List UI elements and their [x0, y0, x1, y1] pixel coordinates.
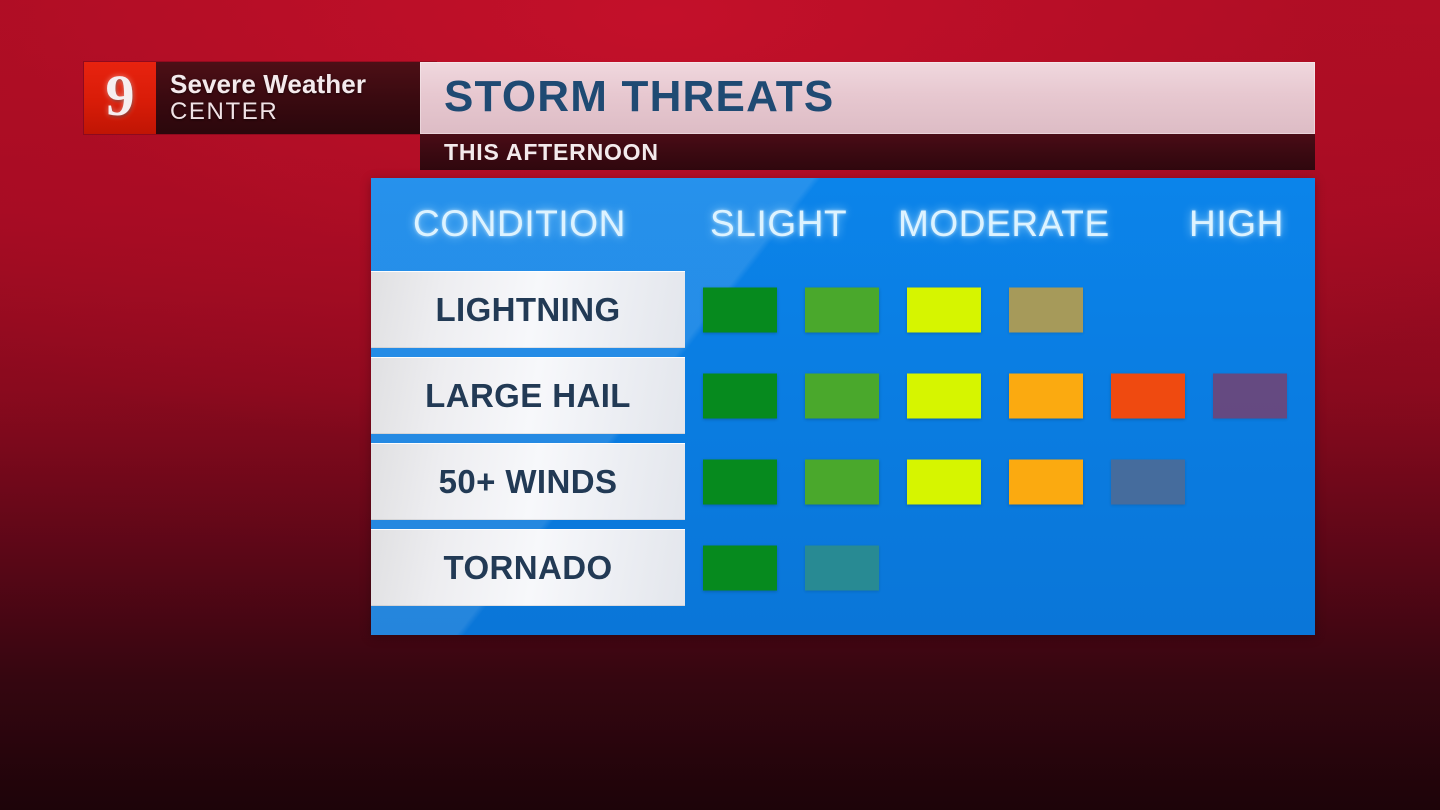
brand-text-block: Severe Weather CENTER — [156, 62, 436, 134]
table-row: 50+ WINDS — [371, 443, 1315, 520]
title-bar: STORM THREATS — [420, 62, 1315, 134]
row-swatches — [685, 271, 1315, 348]
table-row: LIGHTNING — [371, 271, 1315, 348]
row-label-text: 50+ WINDS — [439, 465, 618, 498]
row-swatches — [685, 357, 1315, 434]
threat-swatch — [703, 373, 777, 418]
threat-swatch — [805, 545, 879, 590]
threat-swatch — [1111, 373, 1185, 418]
row-label-tornado: TORNADO — [371, 529, 685, 606]
threat-swatch — [1009, 373, 1083, 418]
row-label-text: TORNADO — [443, 551, 612, 584]
brand-line-center: CENTER — [170, 99, 418, 126]
column-header-moderate: MODERATE — [898, 178, 1110, 269]
row-swatches — [685, 529, 1315, 606]
subtitle-bar: THIS AFTERNOON — [420, 134, 1315, 170]
station-brand-block: 9 Severe Weather CENTER — [84, 62, 436, 134]
threat-swatch — [1009, 459, 1083, 504]
row-label-text: LARGE HAIL — [425, 379, 631, 412]
threat-swatch — [907, 287, 981, 332]
column-header-slight: SLIGHT — [710, 178, 847, 269]
threat-swatch — [703, 545, 777, 590]
page-subtitle: THIS AFTERNOON — [420, 141, 659, 164]
weather-graphic-screen: 9 Severe Weather CENTER STORM THREATS TH… — [0, 0, 1440, 810]
threat-swatch — [907, 373, 981, 418]
threat-swatch — [703, 287, 777, 332]
column-header-condition: CONDITION — [413, 178, 626, 269]
row-label-large-hail: LARGE HAIL — [371, 357, 685, 434]
brand-line-severe-weather: Severe Weather — [170, 70, 418, 99]
channel-9-logo: 9 — [84, 62, 156, 134]
column-header-high: HIGH — [1189, 178, 1284, 269]
threat-swatch — [1111, 459, 1185, 504]
row-swatches — [685, 443, 1315, 520]
row-label-50-winds: 50+ WINDS — [371, 443, 685, 520]
threat-swatch — [805, 459, 879, 504]
storm-threats-panel: CONDITION SLIGHT MODERATE HIGH LIGHTNING… — [371, 178, 1315, 635]
row-label-text: LIGHTNING — [435, 293, 620, 326]
channel-number: 9 — [106, 67, 135, 125]
table-row: TORNADO — [371, 529, 1315, 606]
threat-swatch — [1213, 373, 1287, 418]
row-label-lightning: LIGHTNING — [371, 271, 685, 348]
threat-swatch — [1009, 287, 1083, 332]
threat-swatch — [907, 459, 981, 504]
threat-swatch — [805, 373, 879, 418]
threat-swatch — [805, 287, 879, 332]
threat-swatch — [703, 459, 777, 504]
page-title: STORM THREATS — [420, 75, 834, 119]
table-header-row: CONDITION SLIGHT MODERATE HIGH — [371, 178, 1315, 269]
table-row: LARGE HAIL — [371, 357, 1315, 434]
